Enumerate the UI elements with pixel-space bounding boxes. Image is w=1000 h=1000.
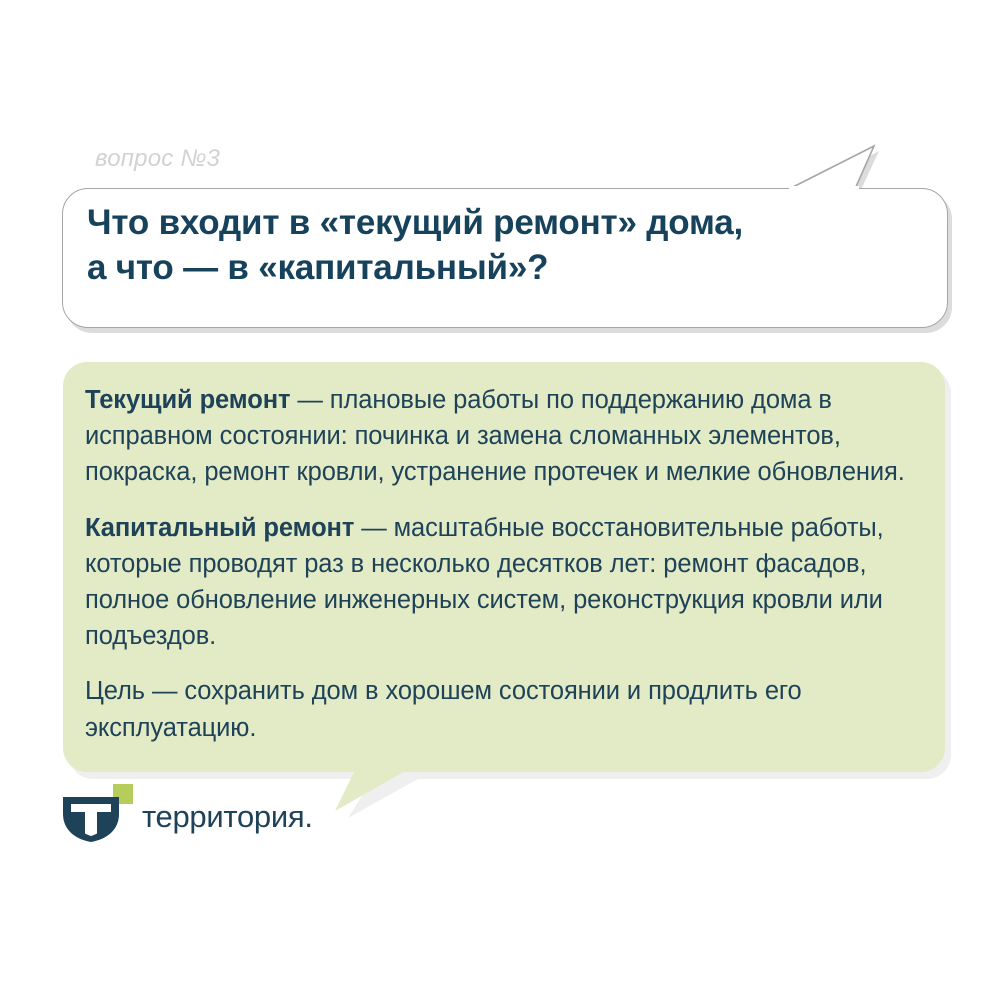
question-number-label: вопрос №3 — [95, 145, 220, 173]
question-title-line-2: а что — в «капитальный»? — [87, 246, 931, 291]
answer-body: Текущий ремонт — плановые работы по подд… — [85, 382, 927, 746]
slide-canvas: вопрос №3 Что входит в «текущий ремонт» … — [0, 0, 1000, 1000]
question-bubble: Что входит в «текущий ремонт» дома, а чт… — [62, 188, 948, 328]
question-title-line-1: Что входит в «текущий ремонт» дома, — [87, 203, 743, 242]
brand-logo: территория. — [60, 786, 313, 842]
answer-paragraph-1: Текущий ремонт — плановые работы по подд… — [85, 382, 927, 491]
answer-paragraph-3: Цель — сохранить дом в хорошем состоянии… — [85, 673, 927, 745]
question-title: Что входит в «текущий ремонт» дома, а чт… — [87, 201, 931, 291]
answer-paragraph-1-lead: Текущий ремонт — [85, 386, 290, 414]
answer-paragraph-3-text: Цель — сохранить дом в хорошем состоянии… — [85, 677, 802, 741]
shield-t-logo-icon — [60, 784, 138, 844]
answer-bubble: Текущий ремонт — плановые работы по подд… — [63, 362, 945, 772]
brand-wordmark: территория. — [142, 801, 313, 832]
answer-paragraph-2: Капитальный ремонт — масштабные восстано… — [85, 510, 927, 655]
answer-paragraph-2-lead: Капитальный ремонт — [85, 514, 354, 542]
